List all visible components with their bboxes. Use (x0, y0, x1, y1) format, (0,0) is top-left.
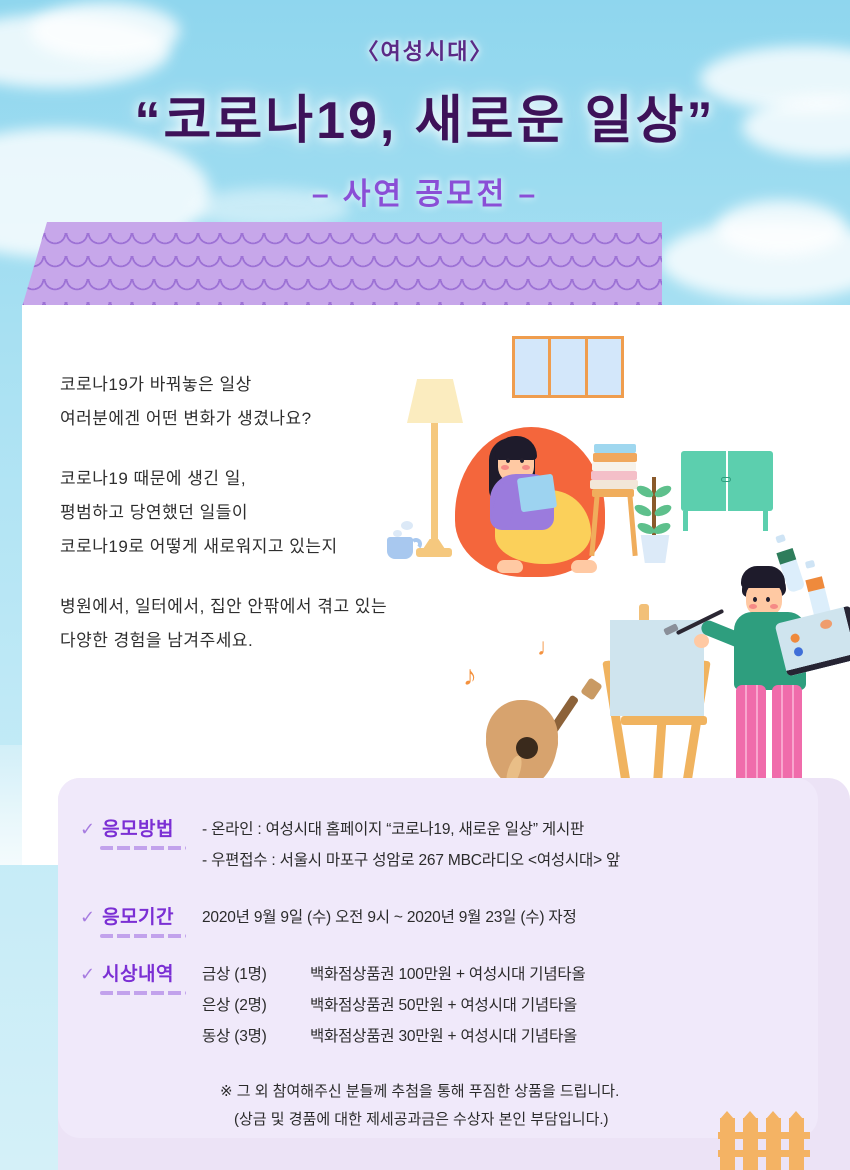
info-row-period: ✓응모기간 2020년 9월 9일 (수) 오전 9시 ~ 2020년 9월 2… (58, 902, 818, 933)
label-underline (100, 934, 186, 938)
book-stack-item (594, 444, 636, 453)
window-pane (551, 339, 584, 395)
woman-cheek (522, 465, 530, 470)
book-stack-item (591, 471, 637, 480)
fence-rail (718, 1150, 810, 1157)
body-line: 병원에서, 일터에서, 집안 안팎에서 겪고 있는 (60, 590, 530, 624)
woman-foot (497, 560, 523, 573)
fence-rail (718, 1132, 810, 1139)
info-panel: ✓응모방법 - 온라인 : 여성시대 홈페이지 “코로나19, 새로운 일상” … (58, 778, 818, 1138)
painter-hand (694, 634, 709, 648)
woman-eye (506, 458, 510, 463)
painter-hair (741, 566, 785, 588)
period-label-wrap: ✓응모기간 (58, 902, 198, 929)
info-row-prizes: ✓시상내역 금상 (1명) 백화점상품권 100만원 + 여성시대 기념타올 은… (58, 959, 818, 1052)
bottle-label (805, 576, 824, 592)
check-icon: ✓ (80, 907, 95, 927)
prize-rank: 동상 (3명) (202, 1021, 310, 1052)
guitar-soundhole (516, 737, 538, 759)
fence-icon (718, 1112, 810, 1170)
steam-icon (393, 530, 402, 537)
cabinet-knob (721, 477, 731, 482)
body-line: 다양한 경험을 남겨주세요. (60, 624, 530, 658)
woman-eye (520, 458, 524, 463)
method-content: - 온라인 : 여성시대 홈페이지 “코로나19, 새로운 일상” 게시판 - … (198, 814, 818, 876)
poster-root: 〈여성시대〉 “코로나19, 새로운 일상” – 사연 공모전 – 코로나19가… (0, 0, 850, 1170)
info-note: ※ 그 외 참여해주신 분들께 추첨을 통해 푸짐한 상품을 드립니다. (상금… (58, 1078, 818, 1134)
easel-canvas (610, 620, 704, 716)
music-note-icon: ♪ (463, 660, 477, 692)
floor-lamp-base (416, 548, 452, 557)
woman-cheek (501, 465, 509, 470)
stool-seat (592, 489, 634, 497)
method-label-wrap: ✓응모방법 (58, 814, 198, 841)
poster-headline: “코로나19, 새로운 일상” (0, 78, 850, 153)
label-underline (100, 846, 186, 850)
book-icon (517, 474, 557, 513)
painter-eye (766, 597, 770, 602)
floor-lamp-pole (431, 423, 438, 541)
painter-leg (772, 685, 802, 793)
painter-cheek (770, 604, 778, 609)
check-icon: ✓ (80, 819, 95, 839)
pants-stripe (745, 685, 747, 793)
easel-crossbar (621, 716, 707, 725)
prize-detail: 백화점상품권 30만원 + 여성시대 기념타올 (310, 1021, 577, 1052)
book-stack-item (593, 453, 637, 462)
book-stack-item (590, 480, 638, 489)
mug-icon (387, 537, 413, 559)
music-note-icon: ♩ (537, 634, 561, 662)
poster-subheadline: – 사연 공모전 – (0, 169, 850, 213)
method-line-mail: - 우편접수 : 서울시 마포구 성암로 267 MBC라디오 <여성시대> 앞 (202, 845, 818, 876)
prizes-label-wrap: ✓시상내역 (58, 959, 198, 986)
window-pane (588, 339, 621, 395)
bottle-cap (775, 534, 786, 543)
prize-row: 금상 (1명) 백화점상품권 100만원 + 여성시대 기념타올 (202, 959, 818, 990)
cabinet-leg (683, 511, 688, 531)
check-icon: ✓ (80, 964, 95, 984)
method-label: 응모방법 (102, 819, 174, 840)
painter-cheek (749, 604, 757, 609)
pants-stripe (781, 685, 783, 793)
prize-detail: 백화점상품권 50만원 + 여성시대 기념타올 (310, 990, 577, 1021)
program-name: 〈여성시대〉 (0, 34, 850, 66)
fence-picket (789, 1118, 804, 1170)
prize-detail: 백화점상품권 100만원 + 여성시대 기념타올 (310, 959, 586, 990)
body-line: 코로나19가 바꿔놓은 일상 (60, 368, 530, 402)
painter-eye (753, 597, 757, 602)
method-line-online: - 온라인 : 여성시대 홈페이지 “코로나19, 새로운 일상” 게시판 (202, 814, 818, 845)
paint-palette (780, 614, 850, 668)
book-stack-item (592, 462, 636, 471)
prize-row: 은상 (2명) 백화점상품권 50만원 + 여성시대 기념타올 (202, 990, 818, 1021)
bottle-cap (805, 560, 815, 569)
roof-shingle-pattern (22, 222, 662, 307)
info-row-method: ✓응모방법 - 온라인 : 여성시대 홈페이지 “코로나19, 새로운 일상” … (58, 814, 818, 876)
note-line-1: ※ 그 외 참여해주신 분들께 추첨을 통해 푸짐한 상품을 드립니다. (220, 1078, 818, 1106)
prizes-label: 시상내역 (102, 964, 174, 985)
palette-edge (775, 605, 850, 676)
sky-strip-left (0, 745, 22, 865)
palette-board (775, 605, 850, 676)
woman-foot (571, 560, 597, 573)
period-content: 2020년 9월 9일 (수) 오전 9시 ~ 2020년 9월 23일 (수)… (198, 902, 818, 933)
painter-leg (736, 685, 766, 793)
house-roof-main (22, 222, 662, 307)
bottle-label (776, 548, 796, 565)
steam-icon (401, 521, 413, 530)
prizes-content: 금상 (1명) 백화점상품권 100만원 + 여성시대 기념타올 은상 (2명)… (198, 959, 818, 1052)
pants-stripe (792, 685, 794, 793)
fence-picket (766, 1118, 781, 1170)
title-block: 〈여성시대〉 “코로나19, 새로운 일상” – 사연 공모전 – (0, 34, 850, 213)
pants-stripe (756, 685, 758, 793)
period-value: 2020년 9월 9일 (수) 오전 9시 ~ 2020년 9월 23일 (수)… (202, 902, 818, 933)
prize-rank: 은상 (2명) (202, 990, 310, 1021)
period-label: 응모기간 (102, 907, 174, 928)
fence-picket (743, 1118, 758, 1170)
prize-rank: 금상 (1명) (202, 959, 310, 990)
prize-row: 동상 (3명) 백화점상품권 30만원 + 여성시대 기념타올 (202, 1021, 818, 1052)
fence-picket (720, 1118, 735, 1170)
cabinet-leg (763, 511, 768, 531)
label-underline (100, 991, 186, 995)
